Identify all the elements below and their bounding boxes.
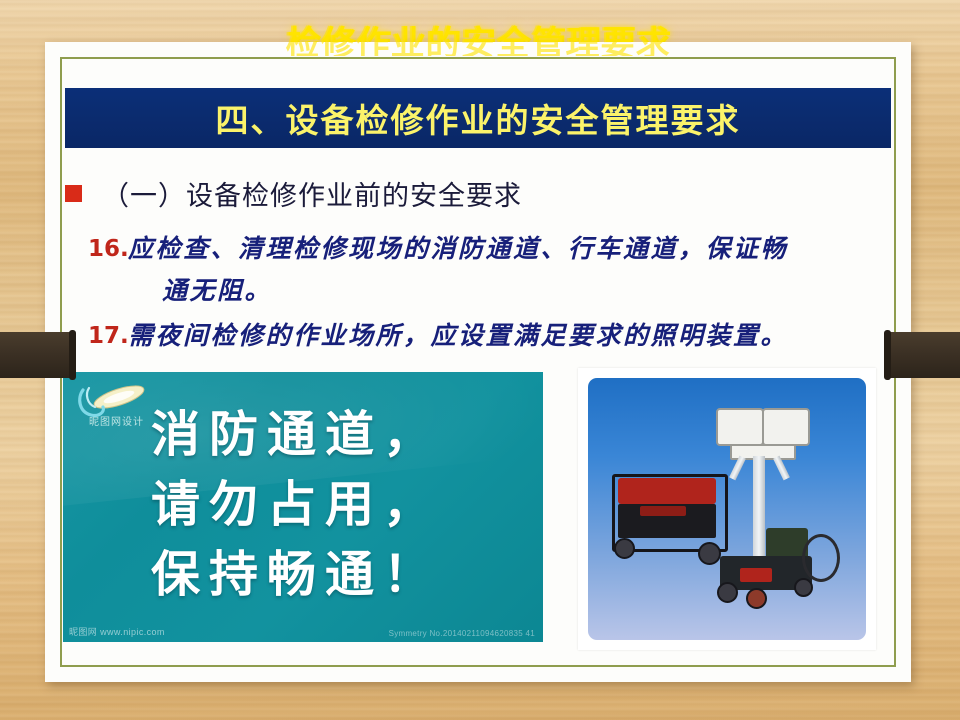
generator-body bbox=[618, 478, 716, 504]
list-item-number: 16. bbox=[88, 228, 128, 270]
lamp-head-left-icon bbox=[716, 408, 764, 446]
light-tower-tank bbox=[740, 568, 772, 582]
list-item-number: 17. bbox=[88, 315, 128, 357]
ribbon-bar-left bbox=[0, 332, 73, 378]
list-item-lines: 需夜间检修的作业场所，应设置满足要求的照明装置。 bbox=[128, 315, 893, 357]
list-item-line: 应检查、清理检修现场的消防通道、行车通道，保证畅 bbox=[128, 228, 893, 270]
generator-wheel bbox=[614, 538, 635, 559]
ribbon-cap-right bbox=[884, 330, 891, 380]
photo-lighting-frame bbox=[578, 368, 876, 650]
light-tower-wheel bbox=[746, 588, 767, 609]
heading-banner: 四、设备检修作业的安全管理要求 bbox=[65, 88, 891, 148]
list-item-line: 需夜间检修的作业场所，应设置满足要求的照明装置。 bbox=[128, 315, 893, 357]
light-tower-wheel bbox=[794, 578, 813, 597]
subheading-text: （一）设备检修作业前的安全要求 bbox=[102, 174, 522, 213]
poster-text-lines: 消防通道， 请勿占用， 保持畅通！ bbox=[151, 400, 535, 610]
slide-root: 检修作业的安全管理要求 检修作业的安全管理要求 四、设备检修作业的安全管理要求 … bbox=[0, 0, 960, 720]
poster-line: 保持畅通！ bbox=[151, 540, 535, 610]
poster-watermark-left: 昵图网 www.nipic.com bbox=[69, 625, 165, 638]
poster-line: 请勿占用， bbox=[151, 470, 535, 540]
list-item-lines: 应检查、清理检修现场的消防通道、行车通道，保证畅 通无阻。 bbox=[128, 228, 893, 312]
slide-card: 检修作业的安全管理要求 四、设备检修作业的安全管理要求 （一）设备检修作业前的安… bbox=[45, 42, 911, 682]
poster-logo-caption: 昵图网设计 bbox=[89, 413, 144, 428]
poster-watermark-right: Symmetry No.20140211094620835 41 bbox=[389, 629, 535, 638]
light-tower-wheel bbox=[717, 582, 738, 603]
subheading-row: （一）设备检修作业前的安全要求 bbox=[65, 174, 522, 213]
lamp-head-right-icon bbox=[762, 408, 810, 446]
poster-line: 消防通道， bbox=[151, 400, 535, 470]
generator-panel bbox=[640, 506, 686, 516]
ribbon-cap-left bbox=[69, 330, 76, 380]
items-block: 16. 应检查、清理检修现场的消防通道、行车通道，保证畅 通无阻。 17. 需夜… bbox=[88, 228, 893, 360]
generator-wheel bbox=[698, 542, 721, 565]
list-item-line: 通无阻。 bbox=[128, 270, 893, 312]
ribbon-bar-right bbox=[888, 332, 960, 378]
list-item: 16. 应检查、清理检修现场的消防通道、行车通道，保证畅 通无阻。 bbox=[88, 228, 893, 312]
lamp-mast bbox=[753, 456, 765, 556]
poster-fire-lane-image: 昵图网设计 消防通道， 请勿占用， 保持畅通！ 昵图网 www.nipic.co… bbox=[63, 372, 543, 642]
list-item: 17. 需夜间检修的作业场所，应设置满足要求的照明装置。 bbox=[88, 315, 893, 357]
red-square-bullet-icon bbox=[65, 185, 82, 202]
power-cable bbox=[802, 534, 840, 582]
photo-lighting-equipment bbox=[588, 378, 866, 640]
heading-text: 四、设备检修作业的安全管理要求 bbox=[216, 94, 741, 142]
